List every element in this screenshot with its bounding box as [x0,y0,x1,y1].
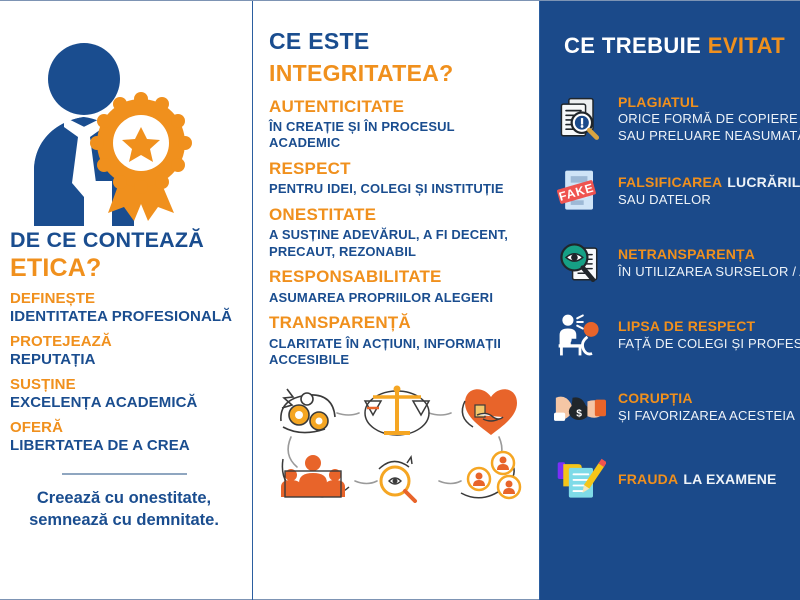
money-bag-bribe-icon: $ [552,379,608,435]
list-item-key-suffix: LA EXAMENE [683,470,776,488]
heart-handshake-icon [462,389,517,435]
tagline: Creează cu onestitate, semnează cu demni… [6,487,242,532]
list-item-key-accent: FALSIFICAREA [618,173,722,191]
list-item-key: SUSȚINE [10,376,242,394]
avoid-section-title: CE TREBUIE EVITAT [564,33,800,59]
list-item-value: CLARITATE ÎN ACȚIUNI, INFORMAȚII ACCESIB… [269,336,527,369]
list-item: $ CORUPȚIA ȘI FAVORIZAREA ACESTEIA [540,371,800,443]
list-item-key: DEFINEȘTE [10,290,242,308]
page-title: DE CE CONTEAZĂ [10,228,242,252]
list-item: RESPECT PENTRU IDEI, COLEGI ȘI INSTITUȚI… [269,158,527,198]
list-item-key-accent: FRAUDA [618,470,678,488]
list-item-text: LIPSA DE RESPECT FAȚĂ DE COLEGI ȘI PROFE… [618,317,800,352]
list-item-text: CORUPȚIA ȘI FAVORIZAREA ACESTEIA [618,389,795,424]
list-item: ONESTITATE A SUSȚINE ADEVĂRUL, A FI DECE… [269,204,527,261]
list-item-text: NETRANSPARENȚA ÎN UTILIZAREA SURSELOR / … [618,245,800,280]
tagline-line-1: Creează cu onestitate, [6,487,242,509]
list-item-value: PENTRU IDEI, COLEGI ȘI INSTITUȚIE [269,181,527,198]
list-item-key: AUTENTICITATE [269,96,527,117]
list-item: NETRANSPARENȚA ÎN UTILIZAREA SURSELOR / … [540,227,800,299]
infographic-poster: DE CE CONTEAZĂ ETICA? DEFINEȘTE IDENTITA… [0,0,800,600]
list-item-value: LIBERTATEA DE A CREA [10,437,242,455]
section-title-accent: INTEGRITATEA? [269,61,527,86]
person-with-award-ribbon-icon [12,31,212,226]
list-item: OFERĂ LIBERTATEA DE A CREA [10,419,242,455]
list-item-key-suffix: LUCRĂRILOR [727,173,800,191]
list-item-value-1: SAU DATELOR [618,192,800,209]
list-item: LIPSA DE RESPECT FAȚĂ DE COLEGI ȘI PROFE… [540,299,800,371]
list-item-key: FALSIFICAREA LUCRĂRILOR [618,173,800,191]
list-item-key: RESPECT [269,158,527,179]
list-item: PROTEJEAZĂ REPUTAȚIA [10,333,242,369]
left-column: DE CE CONTEAZĂ ETICA? DEFINEȘTE IDENTITA… [0,1,253,600]
tagline-line-2: semnează cu demnitate. [6,509,242,531]
document-magnifier-alert-icon [552,91,608,147]
list-item: FAKE FALSIFICAREA LUCRĂRILOR SAU DATELOR [540,155,800,227]
list-item: SUSȚINE EXCELENȚA ACADEMICĂ [10,376,242,412]
list-item-value: ÎN CREAȚIE ȘI ÎN PROCESUL ACADEMIC [269,119,527,152]
list-item-key: ONESTITATE [269,204,527,225]
balance-scales-icon [365,385,429,435]
list-item-value: ASUMAREA PROPRIILOR ALEGERI [269,290,527,307]
list-item-value: REPUTAȚIA [10,351,242,369]
list-item-key: PLAGIATUL [618,93,800,111]
list-item-value-1: FAȚĂ DE COLEGI ȘI PROFESORI [618,336,800,353]
integrity-cycle-diagram [269,375,527,503]
divider [62,473,187,475]
list-item-key: OFERĂ [10,419,242,437]
disrespect-classroom-icon [552,307,608,363]
list-item-value: EXCELENȚA ACADEMICĂ [10,394,242,412]
integrity-list: AUTENTICITATE ÎN CREAȚIE ȘI ÎN PROCESUL … [269,96,527,369]
list-item-value-1: ORICE FORMĂ DE COPIERE [618,111,800,128]
list-item-value-1: ȘI FAVORIZAREA ACESTEIA [618,408,795,425]
list-item-value: IDENTITATEA PROFESIONALĂ [10,308,242,326]
exam-cheating-hand-icon [552,451,608,507]
section-title: CE ESTE [269,29,527,54]
page-title-accent: ETICA? [10,254,242,283]
list-item-value: A SUSȚINE ADEVĂRUL, A FI DECENT, PRECAUT… [269,227,527,260]
list-item-key: NETRANSPARENȚA [618,245,800,263]
avoid-title-prefix: CE TREBUIE [564,33,708,58]
list-item-key: FRAUDA LA EXAMENE [618,470,777,488]
avoid-list: PLAGIATUL ORICE FORMĂ DE COPIERE SAU PRE… [540,83,800,515]
magnifier-eye-icon [379,457,415,501]
list-item-key: TRANSPARENȚĂ [269,312,527,333]
list-item: PLAGIATUL ORICE FORMĂ DE COPIERE SAU PRE… [540,83,800,155]
middle-column: CE ESTE INTEGRITATEA? AUTENTICITATE ÎN C… [253,1,540,600]
avoid-title-accent: EVITAT [708,33,785,58]
list-item: DEFINEȘTE IDENTITATEA PROFESIONALĂ [10,290,242,326]
list-item-value-1: ÎN UTILIZAREA SURSELOR / AI [618,264,800,281]
list-item-key: LIPSA DE RESPECT [618,317,800,335]
right-column: CE TREBUIE EVITAT [540,1,800,600]
list-item-text: FALSIFICAREA LUCRĂRILOR SAU DATELOR [618,173,800,208]
list-item: RESPONSABILITATE ASUMAREA PROPRIILOR ALE… [269,266,527,306]
list-item-key: CORUPȚIA [618,389,795,407]
magnifier-eye-document-icon [552,235,608,291]
list-item: FRAUDA LA EXAMENE [540,443,800,515]
user-badges-network-icon [461,452,520,498]
list-item: TRANSPARENȚĂ CLARITATE ÎN ACȚIUNI, INFOR… [269,312,527,369]
gears-icon [281,389,335,433]
list-item: AUTENTICITATE ÎN CREAȚIE ȘI ÎN PROCESUL … [269,96,527,153]
list-item-value-2: SAU PRELUARE NEASUMATĂ [618,128,800,145]
fake-document-stamp-icon: FAKE [552,163,608,219]
why-ethics-list: DEFINEȘTE IDENTITATEA PROFESIONALĂ PROTE… [10,290,242,462]
svg-text:$: $ [576,408,582,419]
list-item-key: PROTEJEAZĂ [10,333,242,351]
list-item-text: FRAUDA LA EXAMENE [618,470,777,488]
list-item-key: RESPONSABILITATE [269,266,527,287]
list-item-text: PLAGIATUL ORICE FORMĂ DE COPIERE SAU PRE… [618,93,800,145]
